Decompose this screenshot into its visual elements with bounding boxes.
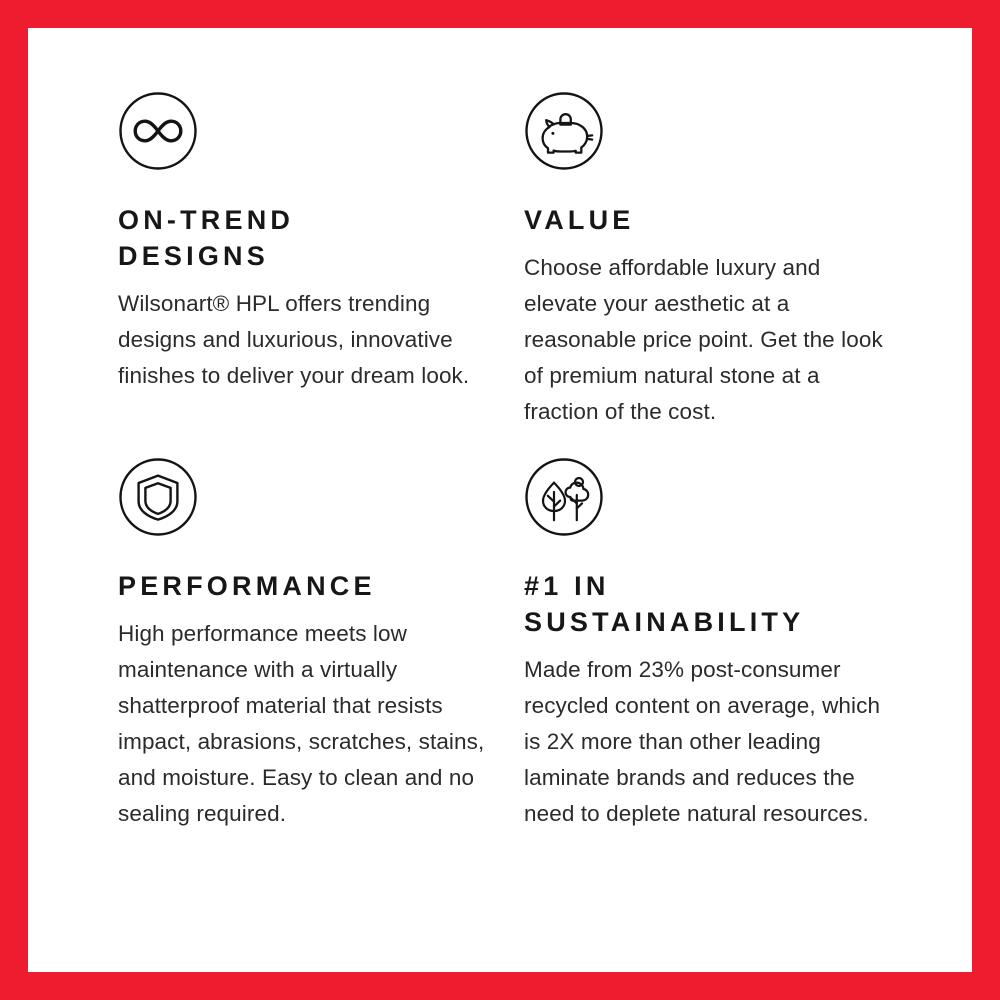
feature-body: Wilsonart® HPL offers trending designs a…: [118, 286, 490, 394]
feature-title: #1 IN SUSTAINABILITY: [524, 568, 904, 640]
feature-body: Made from 23% post-consumer recycled con…: [524, 652, 884, 832]
feature-card-on-trend-designs: ON-TREND DESIGNS Wilsonart® HPL offers t…: [118, 91, 488, 394]
page-root: ON-TREND DESIGNS Wilsonart® HPL offers t…: [0, 0, 1000, 1000]
feature-title: VALUE: [524, 202, 904, 238]
feature-body: Choose affordable luxury and elevate you…: [524, 250, 896, 430]
feature-card-sustainability: #1 IN SUSTAINABILITY Made from 23% post-…: [524, 457, 904, 832]
infinity-icon: [118, 91, 198, 171]
feature-title: ON-TREND DESIGNS: [118, 202, 488, 274]
shield-icon: [118, 457, 198, 537]
content-canvas: ON-TREND DESIGNS Wilsonart® HPL offers t…: [28, 28, 972, 972]
feature-title: PERFORMANCE: [118, 568, 508, 604]
feature-card-value: VALUE Choose affordable luxury and eleva…: [524, 91, 904, 430]
piggy-bank-icon: [524, 91, 604, 171]
feature-body: High performance meets low maintenance w…: [118, 616, 510, 832]
trees-icon: [524, 457, 604, 537]
feature-card-performance: PERFORMANCE High performance meets low m…: [118, 457, 508, 832]
